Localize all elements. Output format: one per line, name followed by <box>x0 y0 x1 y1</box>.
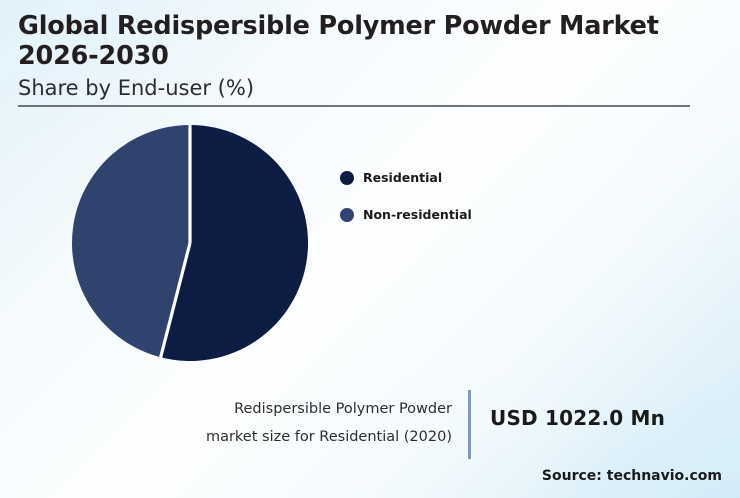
legend-item-label: Residential <box>363 170 442 185</box>
legend: Residential Non-residential <box>340 170 472 244</box>
pie-chart <box>72 125 308 361</box>
header: Global Redispersible Polymer Powder Mark… <box>18 12 698 101</box>
page-subtitle: Share by End-user (%) <box>18 76 698 101</box>
footer-note: Redispersible Polymer Powder market size… <box>170 396 452 451</box>
legend-item-non-residential[interactable]: Non-residential <box>340 207 472 222</box>
legend-item-residential[interactable]: Residential <box>340 170 472 185</box>
source-label: Source: technavio.com <box>542 468 722 484</box>
footer-note-line-2: market size for Residential (2020) <box>170 424 452 452</box>
circle-swatch-icon <box>340 208 354 222</box>
infographic-canvas: Global Redispersible Polymer Powder Mark… <box>0 0 740 498</box>
page-title: Global Redispersible Polymer Powder Mark… <box>18 12 698 72</box>
legend-item-label: Non-residential <box>363 207 472 222</box>
pie-chart-svg <box>72 125 308 361</box>
header-divider <box>18 105 690 107</box>
footer-note-line-1: Redispersible Polymer Powder <box>170 396 452 424</box>
circle-swatch-icon <box>340 171 354 185</box>
footer-divider <box>468 390 471 459</box>
market-size-value: USD 1022.0 Mn <box>490 406 665 430</box>
